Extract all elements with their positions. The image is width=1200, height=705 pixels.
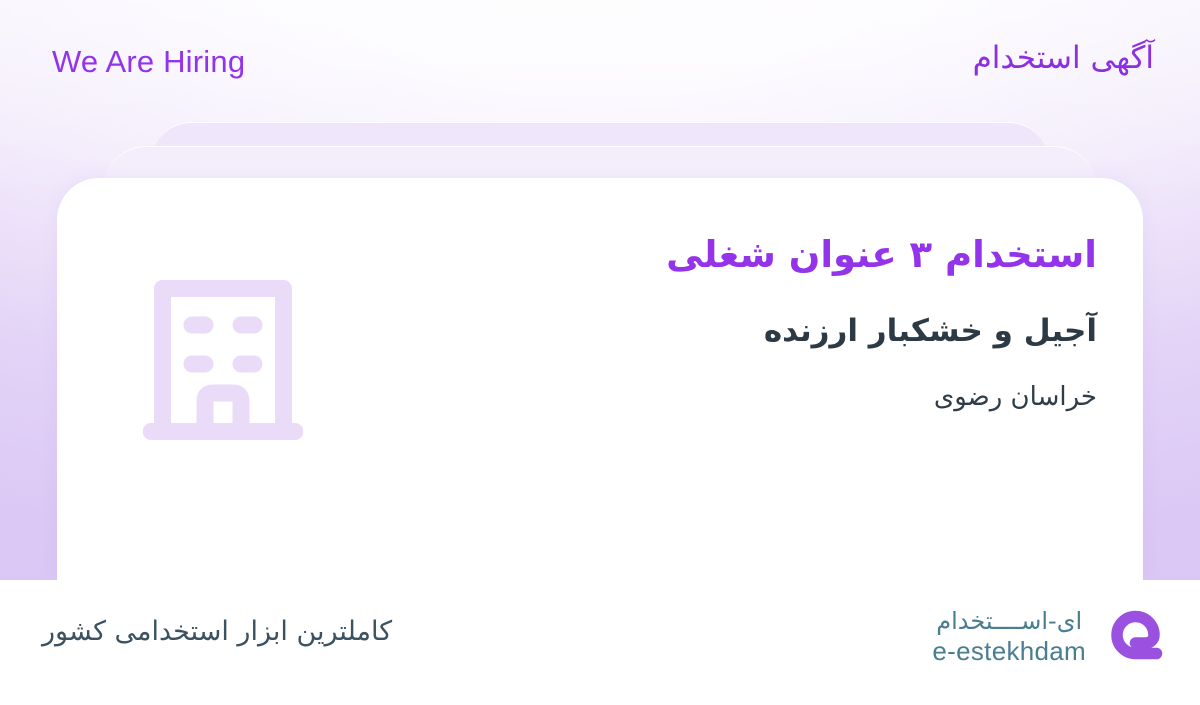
footer: کاملترین ابزار استخدامی کشور ای-اســــتخ…	[0, 580, 1200, 705]
job-ad-page: استخدام ۳ عنوان شغلی آجیل و خشکبار ارزند…	[0, 0, 1200, 705]
job-location: خراسان رضوی	[337, 379, 1097, 415]
brand-wordmark: ای-اســــتخدام e-estekhdam	[932, 609, 1086, 664]
job-card-text: استخدام ۳ عنوان شغلی آجیل و خشکبار ارزند…	[337, 230, 1097, 416]
footer-tagline: کاملترین ابزار استخدامی کشور	[42, 616, 482, 647]
we-are-hiring-label: We Are Hiring	[52, 44, 245, 80]
job-card[interactable]: استخدام ۳ عنوان شغلی آجیل و خشکبار ارزند…	[57, 178, 1143, 580]
brand-lockup[interactable]: ای-اســــتخدام e-estekhdam	[932, 604, 1166, 668]
company-name: آجیل و خشکبار ارزنده	[337, 310, 1097, 353]
office-building-icon	[143, 270, 303, 442]
job-card-inner: استخدام ۳ عنوان شغلی آجیل و خشکبار ارزند…	[57, 178, 1143, 580]
brand-name-fa: ای-اســــتخدام	[936, 609, 1082, 633]
hero-header: We Are Hiring آگهی استخدام	[0, 0, 1200, 118]
hero-section: استخدام ۳ عنوان شغلی آجیل و خشکبار ارزند…	[0, 0, 1200, 580]
e-logo-mark-icon	[1102, 604, 1166, 668]
job-title: استخدام ۳ عنوان شغلی	[337, 230, 1097, 280]
job-ad-label: آگهی استخدام	[973, 40, 1154, 76]
brand-name-en: e-estekhdam	[932, 638, 1086, 664]
